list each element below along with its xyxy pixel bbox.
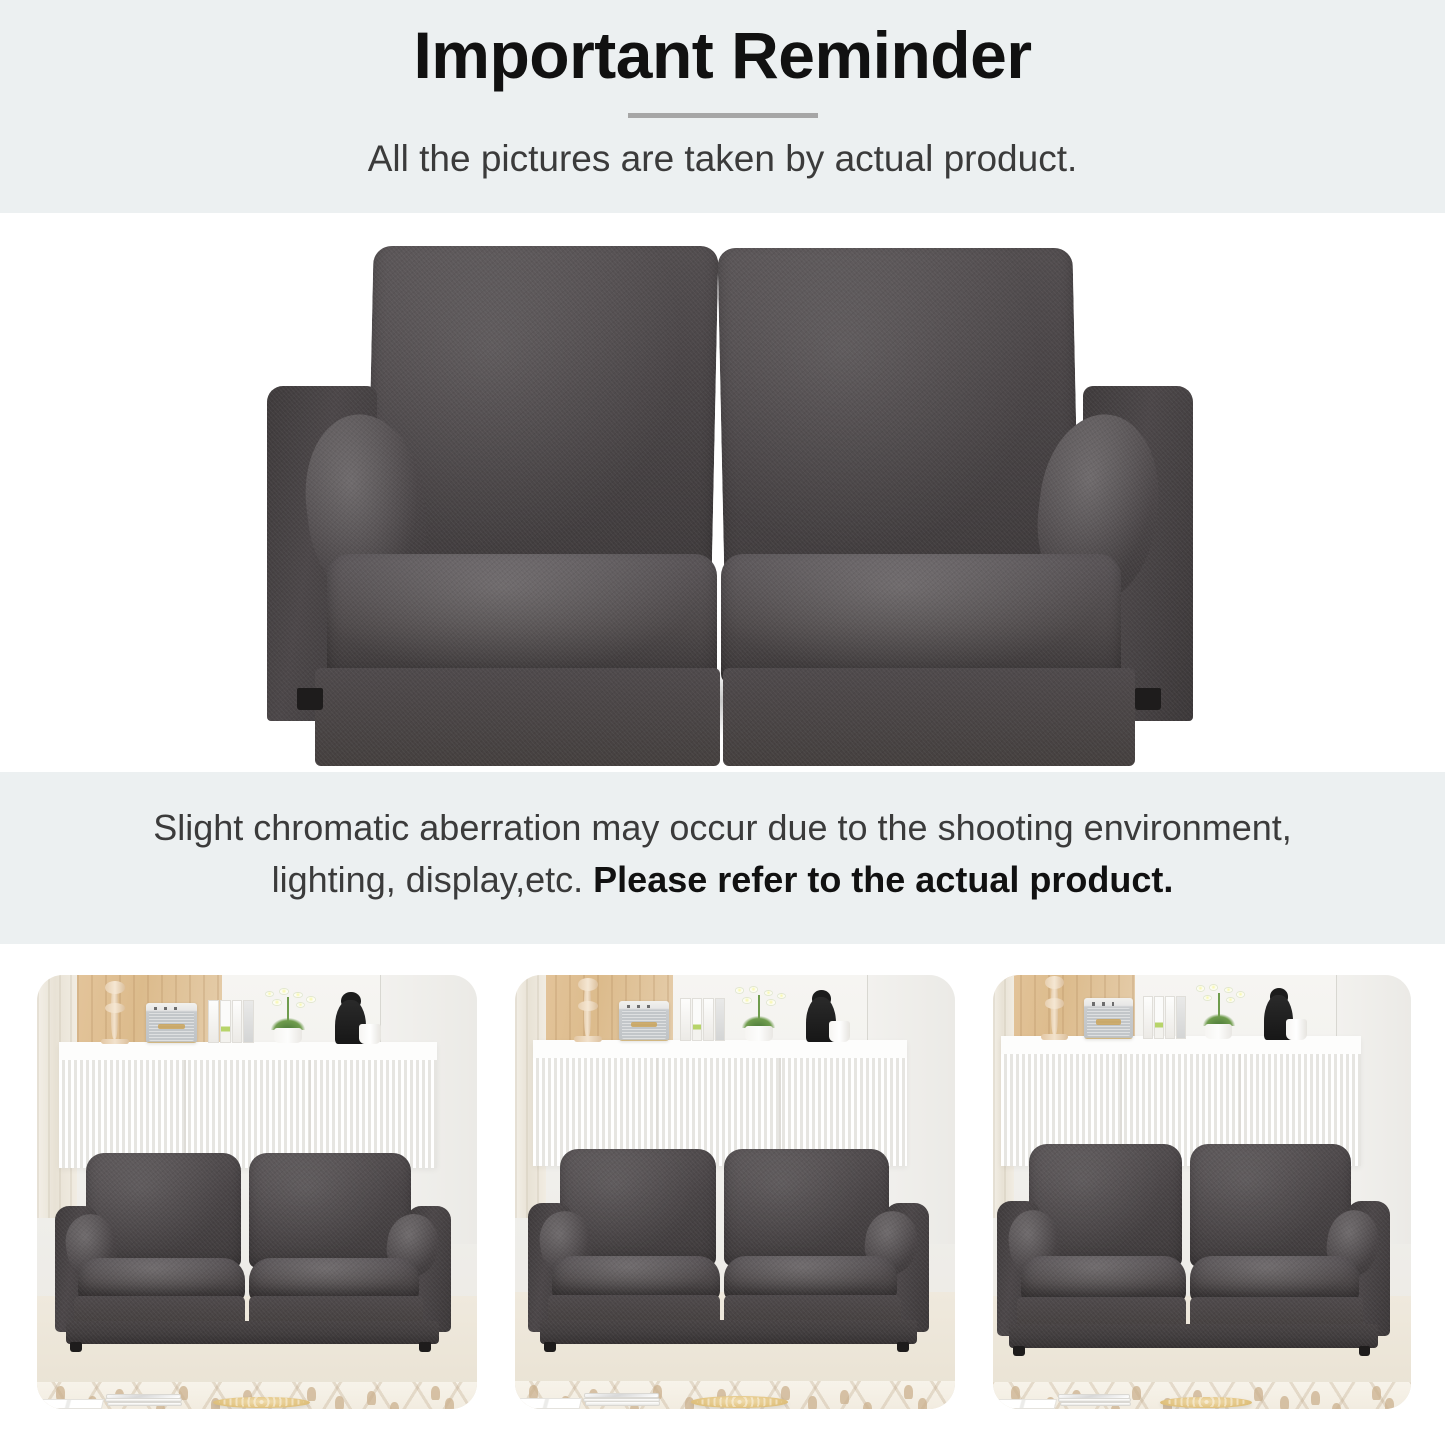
cabinet-decor-group — [59, 979, 437, 1044]
gallery-thumbnail-row — [0, 975, 1445, 1415]
page-title: Important Reminder — [0, 22, 1445, 88]
sideboard-cabinet — [59, 1042, 437, 1168]
title-divider — [628, 113, 818, 118]
black-sculpture — [1260, 988, 1307, 1040]
room-sofa-3 — [997, 1144, 1390, 1348]
sofa-seat-cushion-right — [721, 554, 1121, 684]
cabinet-top — [59, 1042, 437, 1060]
gallery-thumbnail-1[interactable] — [37, 975, 477, 1409]
disclaimer-line-2: lighting, display,etc. Please refer to t… — [80, 854, 1365, 906]
sofa-back-cushion-right — [717, 248, 1079, 588]
orchid-plant — [1188, 984, 1249, 1039]
sofa-rail-left — [315, 668, 720, 766]
sofa-rail-right — [723, 668, 1135, 766]
black-sculpture — [802, 990, 851, 1042]
book-row — [208, 1000, 253, 1043]
cabinet-decor-group — [1001, 975, 1360, 1040]
orchid-plant — [727, 986, 791, 1041]
sideboard-cabinet — [533, 1040, 907, 1166]
room-scene-2 — [515, 975, 955, 1409]
sofa-leg-left — [297, 688, 323, 710]
page-subtitle: All the pictures are taken by actual pro… — [0, 135, 1445, 183]
book-row — [680, 998, 725, 1041]
room-scene-1 — [37, 975, 477, 1409]
cabinet-top — [533, 1040, 907, 1058]
room-sofa-1 — [55, 1153, 451, 1344]
woven-pouf — [691, 1396, 788, 1408]
woven-pouf — [213, 1397, 310, 1408]
open-book — [993, 1399, 1057, 1409]
bluetooth-speaker — [619, 1001, 669, 1041]
cabinet-door-seam — [184, 1060, 186, 1168]
black-sculpture — [331, 992, 380, 1044]
orchid-plant — [256, 988, 320, 1043]
disclaimer-text: Slight chromatic aberration may occur du… — [0, 802, 1445, 906]
book-stack — [585, 1391, 660, 1405]
cabinet-fluted-doors — [59, 1060, 437, 1168]
disclaimer-line-2-regular: lighting, display,etc. — [272, 859, 584, 900]
book-stack — [107, 1392, 182, 1406]
disclaimer-line-1: Slight chromatic aberration may occur du… — [80, 802, 1365, 854]
room-sofa-2 — [528, 1149, 928, 1344]
sofa-seat-cushion-left — [327, 554, 717, 684]
woven-pouf — [1160, 1397, 1252, 1408]
book-row — [1143, 996, 1186, 1039]
sofa-illustration — [255, 236, 1205, 726]
cabinet-decor-group — [533, 977, 907, 1042]
sofa-leg-right — [1135, 688, 1161, 710]
bluetooth-speaker — [146, 1003, 197, 1043]
table-lamp — [574, 977, 602, 1042]
open-book — [515, 1398, 582, 1409]
disclaimer-line-2-bold: Please refer to the actual product. — [593, 859, 1173, 900]
room-scene-3 — [993, 975, 1411, 1409]
bluetooth-speaker — [1084, 998, 1133, 1038]
book-stack — [1060, 1392, 1131, 1406]
gallery-thumbnail-2[interactable] — [515, 975, 955, 1409]
cabinet-door-seam — [309, 1060, 311, 1168]
table-lamp — [101, 979, 129, 1044]
product-info-page: Important Reminder All the pictures are … — [0, 0, 1445, 1445]
hero-product-image — [255, 236, 1205, 726]
open-book — [37, 1399, 104, 1409]
table-lamp — [1041, 975, 1068, 1040]
gallery-thumbnail-3[interactable] — [993, 975, 1411, 1409]
